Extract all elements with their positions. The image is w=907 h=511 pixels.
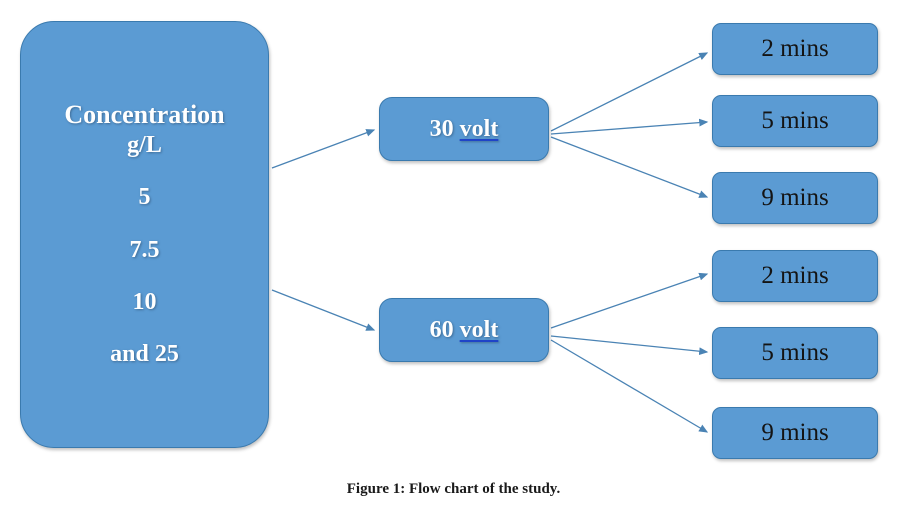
node-time-30v-9mins[interactable]: 9 mins: [712, 172, 878, 224]
concentration-value-3: 10: [133, 289, 157, 315]
edge-30volt-to-2mins: [551, 53, 707, 131]
node-time-60v-2mins[interactable]: 2 mins: [712, 250, 878, 302]
node-time-30v-2mins[interactable]: 2 mins: [712, 23, 878, 75]
edge-60volt-to-9mins: [551, 340, 707, 432]
edge-60volt-to-2mins: [551, 274, 707, 328]
node-60-volt-label: 60 volt: [430, 317, 499, 344]
concentration-value-2: 7.5: [130, 237, 160, 263]
edge-60volt-to-5mins: [551, 336, 707, 352]
concentration-value-1: 5: [139, 184, 151, 210]
concentration-title: Concentration: [64, 101, 224, 130]
node-time-label: 5 mins: [761, 107, 828, 135]
node-time-label: 2 mins: [761, 35, 828, 63]
edge-concentration-to-30volt: [272, 130, 374, 168]
node-time-60v-9mins[interactable]: 9 mins: [712, 407, 878, 459]
node-60-volt-prefix: 60: [430, 317, 460, 343]
edge-30volt-to-9mins: [551, 137, 707, 197]
node-30-volt-underlined: volt: [460, 116, 499, 142]
node-30-volt-label: 30 volt: [430, 116, 499, 143]
edge-concentration-to-60volt: [272, 290, 374, 330]
flowchart-canvas: Concentration g/L 5 7.5 10 and 25 30 vol…: [0, 0, 907, 511]
concentration-value-4: and 25: [110, 341, 179, 367]
node-time-30v-5mins[interactable]: 5 mins: [712, 95, 878, 147]
node-concentration[interactable]: Concentration g/L 5 7.5 10 and 25: [20, 21, 269, 448]
concentration-unit: g/L: [127, 132, 162, 158]
node-time-60v-5mins[interactable]: 5 mins: [712, 327, 878, 379]
node-60-volt[interactable]: 60 volt: [379, 298, 549, 362]
node-time-label: 9 mins: [761, 184, 828, 212]
node-30-volt-prefix: 30: [430, 116, 460, 142]
node-time-label: 5 mins: [761, 339, 828, 367]
node-60-volt-underlined: volt: [460, 317, 499, 343]
edge-30volt-to-5mins: [551, 122, 707, 134]
node-time-label: 2 mins: [761, 262, 828, 290]
node-30-volt[interactable]: 30 volt: [379, 97, 549, 161]
figure-caption: Figure 1: Flow chart of the study.: [0, 481, 907, 498]
node-time-label: 9 mins: [761, 419, 828, 447]
